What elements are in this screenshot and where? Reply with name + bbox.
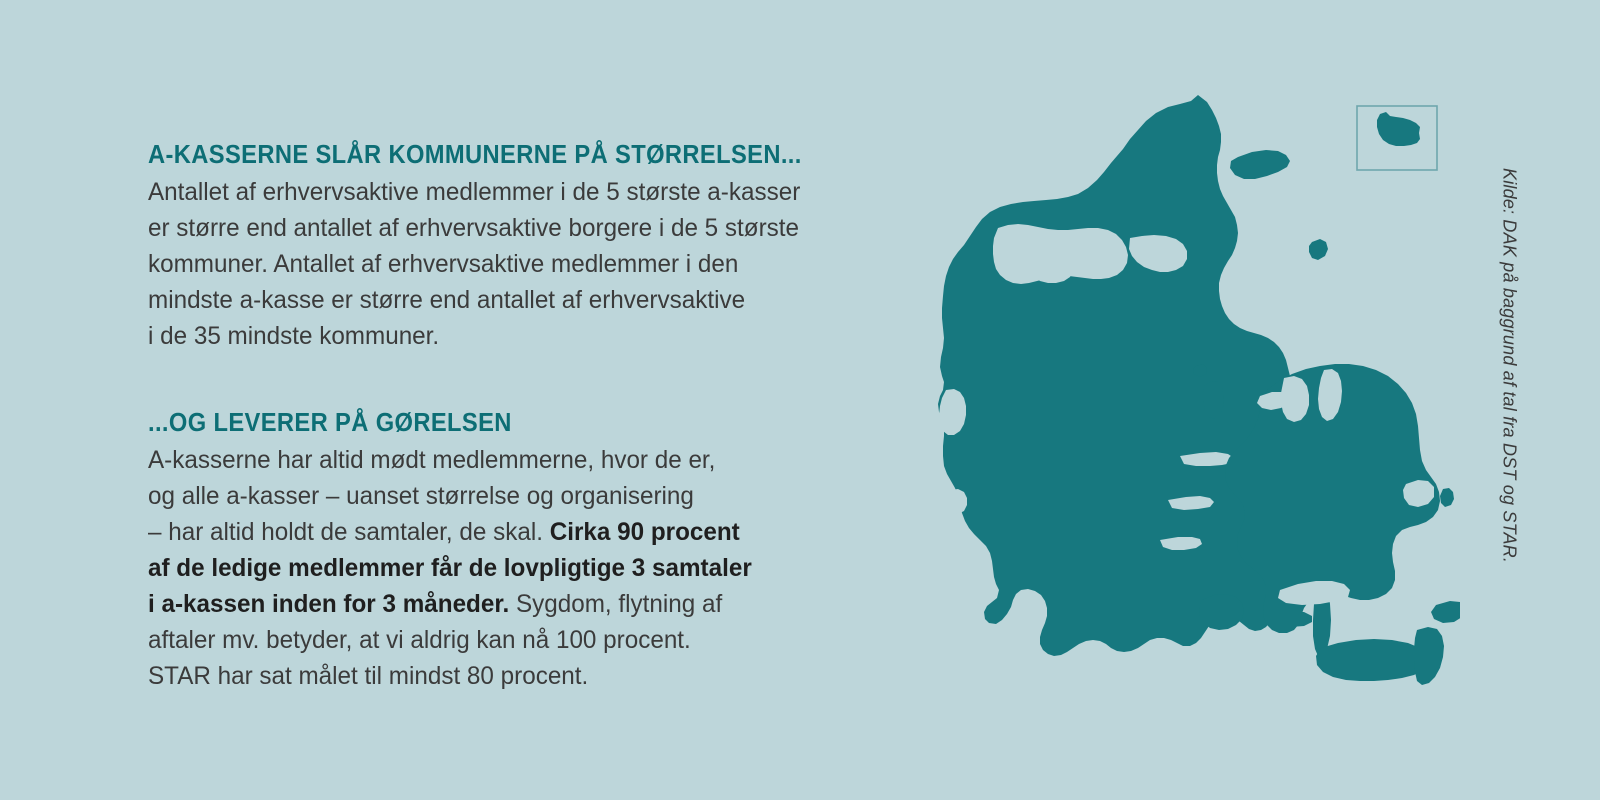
body-line: – har altid holdt de samtaler, de skal.	[148, 518, 543, 546]
bornholm-inset	[1357, 106, 1437, 170]
paragraph-stoerrelsen: Antallet af erhvervsaktive medlemmer i d…	[148, 174, 885, 354]
source-note: Kilde: DAK på baggrund af tal fra DST og…	[1492, 168, 1526, 620]
section-spacer	[148, 354, 908, 408]
body-line: er større end antallet af erhvervsaktive…	[148, 214, 799, 242]
map-water-haderslev-fjord	[1160, 537, 1202, 550]
paragraph-goerelsen: A-kasserne har altid mødt medlemmerne, h…	[148, 442, 885, 694]
denmark-map	[880, 60, 1460, 740]
body-line: A-kasserne har altid mødt medlemmerne, h…	[148, 446, 715, 474]
body-line: i de 35 mindste kommuner.	[148, 322, 439, 350]
map-region-lolland	[1316, 639, 1428, 681]
heading-a-kasserne-slaar-kommunerne: A-KASSERNE SLÅR KOMMUNERNE PÅ STØRRELSEN…	[148, 140, 855, 170]
map-region-moen	[1431, 601, 1460, 623]
denmark-map-svg	[880, 60, 1460, 740]
map-water-nissum-fjord	[946, 489, 967, 514]
body-line: STAR har sat målet til mindst 80 procent…	[148, 662, 588, 690]
body-line-bold: i a-kassen inden for 3 måneder.	[148, 590, 509, 618]
body-line-bold: Cirka 90 procent	[550, 518, 740, 546]
body-line: mindste a-kasse er større end antallet a…	[148, 286, 745, 314]
heading-og-leverer-paa-goerelsen: ...OG LEVERER PÅ GØRELSEN	[148, 408, 855, 438]
map-region-hven	[1440, 488, 1454, 507]
text-column: A-KASSERNE SLÅR KOMMUNERNE PÅ STØRRELSEN…	[148, 140, 908, 694]
body-line: kommuner. Antallet af erhvervsaktive med…	[148, 250, 738, 278]
body-line: Antallet af erhvervsaktive medlemmer i d…	[148, 178, 800, 206]
map-region-laesoe	[1230, 150, 1290, 179]
body-line: Sygdom, flytning af	[516, 590, 722, 618]
infographic-poster: A-KASSERNE SLÅR KOMMUNERNE PÅ STØRRELSEN…	[0, 0, 1600, 800]
body-line: aftaler mv. betyder, at vi aldrig kan nå…	[148, 626, 691, 654]
source-note-text: Kilde: DAK på baggrund af tal fra DST og…	[1499, 168, 1520, 563]
map-region-anholt	[1309, 239, 1328, 260]
map-region-falster	[1414, 627, 1444, 685]
map-region-bornholm	[1377, 112, 1420, 146]
body-line-bold: af de ledige medlemmer får de lovpligtig…	[148, 554, 752, 582]
body-line: og alle a-kasser – uanset størrelse og o…	[148, 482, 694, 510]
